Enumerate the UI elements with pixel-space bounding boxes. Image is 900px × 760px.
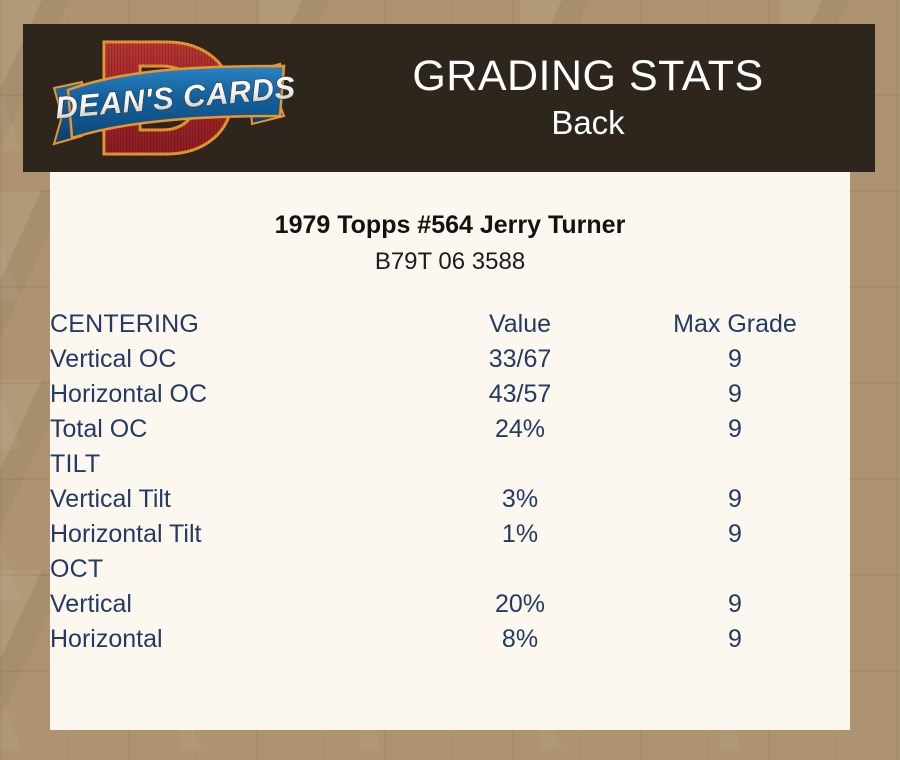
card-serial-number: B79T 06 3588 [50,247,850,277]
column-header-value [420,447,620,482]
stat-value: 43/57 [420,377,620,412]
stat-label: Horizontal Tilt [50,517,420,552]
stat-value: 8% [420,622,620,657]
stat-value: 33/67 [420,342,620,377]
card-title: 1979 Topps #564 Jerry Turner [50,210,850,241]
stat-max-grade: 9 [620,622,850,657]
stat-max-grade: 9 [620,342,850,377]
header-bar: DEAN'S CARDS GRADING STATS Back [23,24,875,172]
stat-value: 20% [420,587,620,622]
column-header-max-grade [620,552,850,587]
page-subtitle: Back [551,103,624,143]
section-title: TILT [50,447,420,482]
table-row: Horizontal Tilt1%9 [50,517,850,552]
table-row: Vertical OC33/679 [50,342,850,377]
table-row: Horizontal OC43/579 [50,377,850,412]
column-header-max-grade [620,447,850,482]
content-panel: 1979 Topps #564 Jerry Turner B79T 06 358… [50,172,850,730]
section-header-row: TILT [50,447,850,482]
stat-max-grade: 9 [620,482,850,517]
stat-value: 3% [420,482,620,517]
grading-stats-table: CENTERINGValueMax GradeVertical OC33/679… [50,307,850,657]
stat-max-grade: 9 [620,412,850,447]
stat-label: Vertical [50,587,420,622]
stat-max-grade: 9 [620,377,850,412]
column-header-value [420,552,620,587]
section-title: CENTERING [50,307,420,342]
section-header-row: OCT [50,552,850,587]
section-header-row: CENTERINGValueMax Grade [50,307,850,342]
stat-max-grade: 9 [620,517,850,552]
stat-value: 1% [420,517,620,552]
stat-label: Horizontal [50,622,420,657]
table-row: Horizontal8%9 [50,622,850,657]
page-title: GRADING STATS [412,53,763,99]
stat-max-grade: 9 [620,587,850,622]
deans-cards-logo[interactable]: DEAN'S CARDS [48,32,313,164]
column-header-max-grade: Max Grade [620,307,850,342]
header-title-group: GRADING STATS Back [323,24,875,172]
table-row: Vertical20%9 [50,587,850,622]
column-header-value: Value [420,307,620,342]
stat-value: 24% [420,412,620,447]
section-title: OCT [50,552,420,587]
stat-label: Vertical OC [50,342,420,377]
grading-stats-page: DEAN'S CARDS GRADING STATS Back 1979 Top… [0,0,900,760]
stat-label: Horizontal OC [50,377,420,412]
stat-label: Vertical Tilt [50,482,420,517]
table-row: Vertical Tilt3%9 [50,482,850,517]
table-row: Total OC24%9 [50,412,850,447]
stat-label: Total OC [50,412,420,447]
